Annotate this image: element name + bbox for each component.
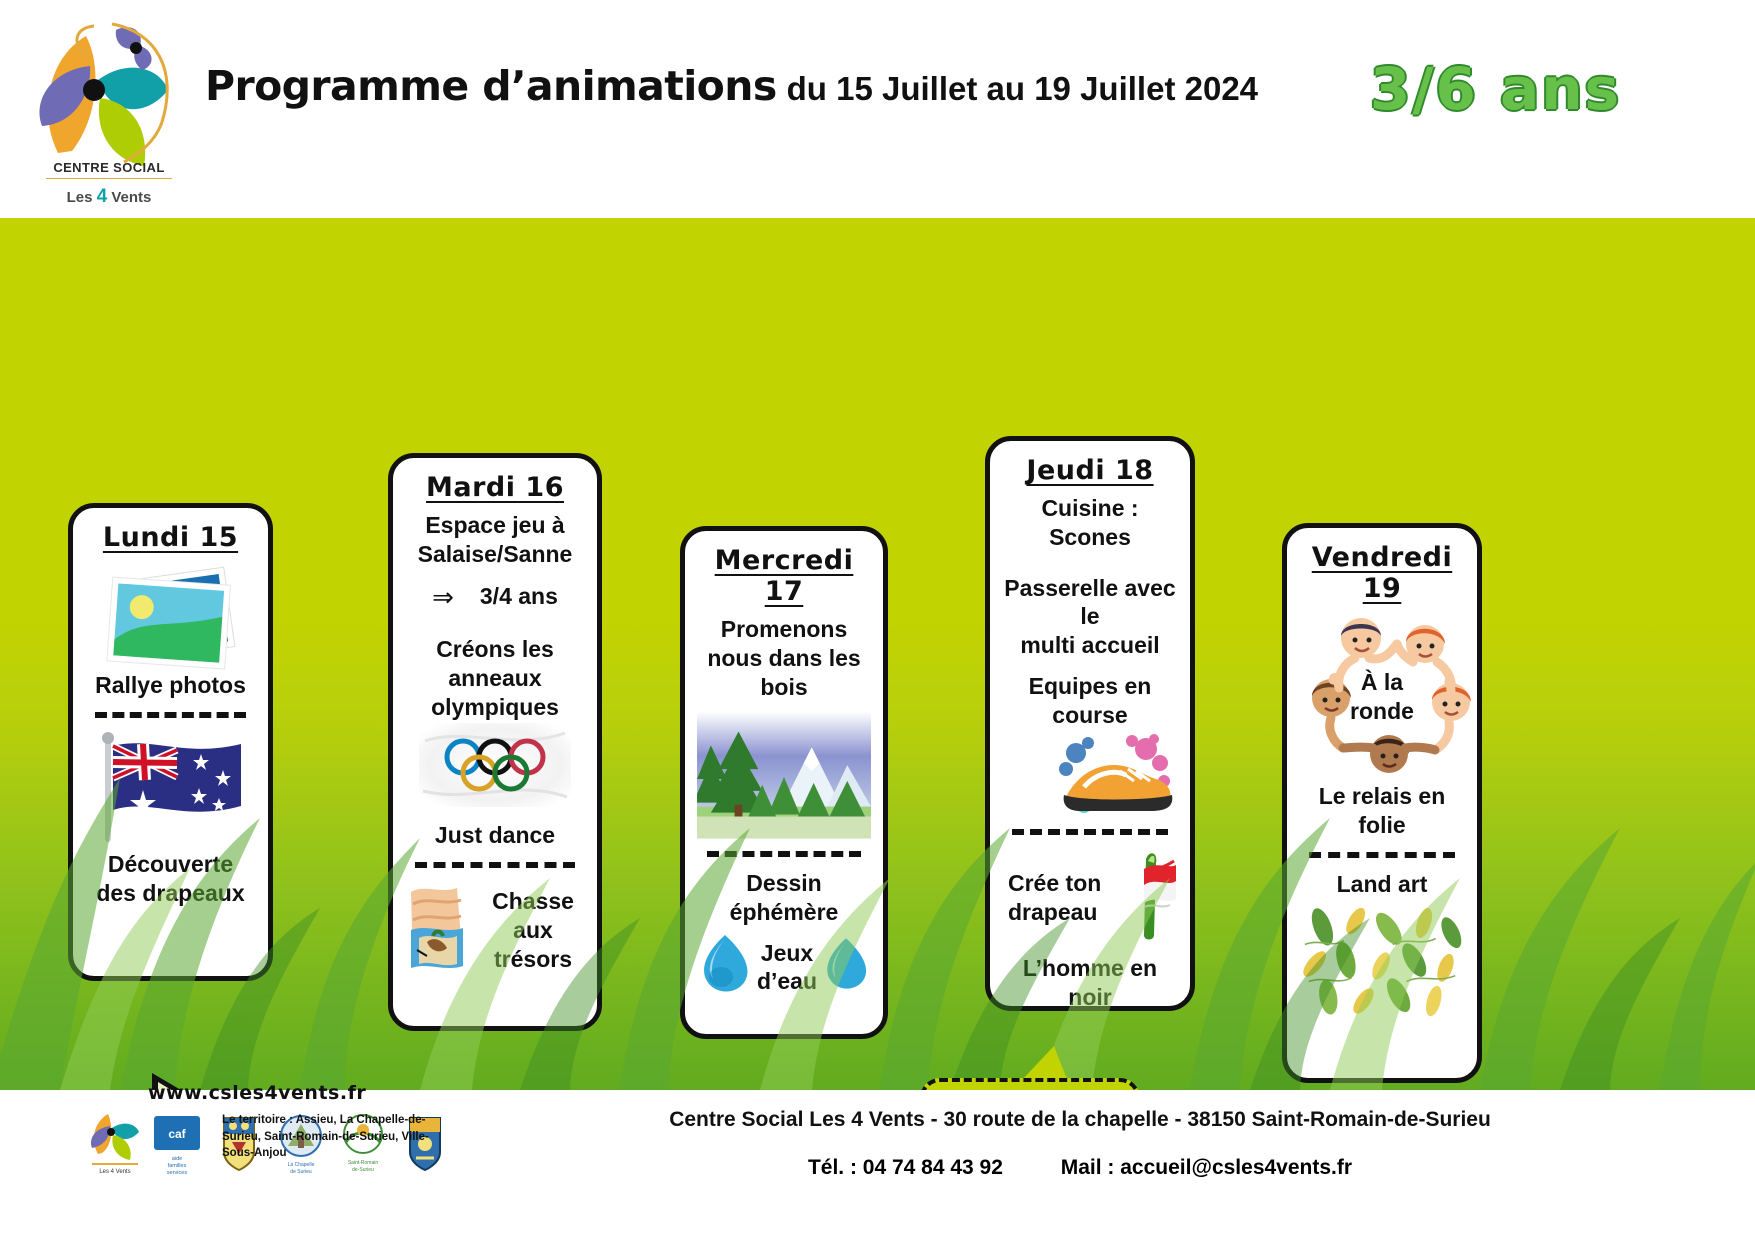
logo-flower-icon: [28, 18, 188, 168]
activity-mardi-2: Créons lesanneauxolympiques: [405, 635, 585, 721]
activity-lundi-2: Découvertedes drapeaux: [85, 850, 256, 908]
logo-org-name: CENTRE SOCIAL: [44, 160, 174, 175]
activity-vendredi-3: Land art: [1299, 870, 1465, 899]
title-daterange: du 15 Juillet au 19 Juillet 2024: [787, 70, 1258, 107]
children-round-icon: À laronde: [1299, 612, 1465, 782]
contact-phone: Tél. : 04 74 84 43 92: [808, 1156, 1003, 1179]
svg-text:Les 4 Vents: Les 4 Vents: [99, 1169, 130, 1175]
temps-fort-bubble-tail: [1020, 1046, 1068, 1082]
day-title-lundi: Lundi 15: [85, 522, 256, 553]
age-group-badge: 3/6 ans: [1370, 55, 1621, 123]
day-card-jeudi[interactable]: Jeudi 18 Cuisine : Scones Passerelle ave…: [985, 436, 1195, 1011]
contact-block: Centre Social Les 4 Vents - 30 route de …: [600, 1108, 1560, 1180]
svg-text:de-Surieu: de-Surieu: [352, 1167, 374, 1173]
activity-mercredi-1: Promenonsnous dans lesbois: [697, 615, 871, 701]
svg-text:services: services: [167, 1170, 187, 1176]
logo-divider: [46, 178, 172, 179]
day-card-mercredi[interactable]: Mercredi 17 Promenonsnous dans lesbois: [680, 526, 888, 1039]
svg-text:de Surieu: de Surieu: [290, 1169, 312, 1175]
card-divider: [415, 862, 575, 868]
page-title: Programme d’animationsdu 15 Juillet au 1…: [205, 62, 1258, 110]
svg-text:La Chapelle: La Chapelle: [288, 1162, 315, 1168]
card-divider: [95, 712, 246, 718]
photos-stack-icon: [85, 561, 256, 671]
temps-fort-bubble[interactable]: Temps fort à partir de 17h: [920, 1078, 1140, 1090]
activity-jeudi-5: L’homme en noir: [1002, 954, 1178, 1012]
poster-root: CENTRE SOCIAL Les 4 Vents Programme d’an…: [0, 0, 1755, 1241]
logo-centre-social-mini: Les 4 Vents: [88, 1108, 142, 1176]
activity-mardi-agegroup-label: 3/4 ans: [480, 582, 558, 611]
svg-text:caf: caf: [168, 1127, 186, 1141]
card-divider: [1309, 852, 1455, 858]
day-card-vendredi[interactable]: Vendredi 19: [1282, 523, 1482, 1083]
activity-mercredi-3-row: Jeux d’eau: [697, 933, 871, 1002]
activity-jeudi-1: Cuisine : Scones: [1002, 494, 1178, 552]
activity-lundi-1: Rallye photos: [85, 671, 256, 700]
activity-jeudi-4-row: Crée tondrapeau: [1002, 847, 1178, 948]
contact-mail[interactable]: Mail : accueil@csles4vents.fr: [1061, 1156, 1352, 1179]
activity-mardi-1: Espace jeu àSalaise/Sanne: [405, 511, 585, 569]
activity-mercredi-3: Jeux d’eau: [753, 939, 821, 997]
poster-header: CENTRE SOCIAL Les 4 Vents Programme d’an…: [0, 0, 1755, 218]
activity-mercredi-2: Dessinéphémère: [697, 869, 871, 927]
day-card-lundi[interactable]: Lundi 15 Rallye photos: [68, 503, 273, 981]
forest-mountain-icon: [697, 711, 871, 839]
water-drop-icon: [697, 933, 753, 1002]
title-main: Programme d’animations: [205, 62, 777, 110]
activity-lundi-2-text: Découvertedes drapeaux: [96, 851, 244, 906]
logo-vents-label: Vents: [107, 189, 151, 206]
activity-jeudi-4: Crée tondrapeau: [1002, 869, 1108, 927]
logo-caf-icon: caf aide familles services: [150, 1108, 204, 1176]
leaves-pattern-icon: [1299, 906, 1465, 1018]
activity-vendredi-2: Le relais enfolie: [1299, 782, 1465, 840]
card-divider: [707, 851, 861, 857]
svg-text:aide: aide: [172, 1156, 182, 1162]
logo-org-subname: Les 4 Vents: [44, 186, 174, 208]
day-card-mardi[interactable]: Mardi 16 Espace jeu àSalaise/Sanne ⇒ 3/4…: [388, 453, 602, 1031]
card-divider: [1012, 829, 1168, 835]
running-shoe-icon: [1002, 731, 1178, 817]
arrow-right-icon: ⇒: [432, 581, 454, 614]
activity-vendredi-1: À laronde: [1299, 668, 1465, 726]
australia-flag-icon: [85, 730, 256, 850]
treasure-map-icon: [405, 880, 477, 981]
website-url[interactable]: www.csles4vents.fr: [148, 1082, 366, 1104]
activity-mardi-4-row: Chasse auxtrésors: [405, 880, 585, 981]
territory-text: Le territoire : Assieu, La Chapelle-de-S…: [222, 1112, 437, 1162]
red-white-flag-icon: [1108, 847, 1178, 948]
poster-body: Lundi 15 Rallye photos: [0, 218, 1755, 1090]
activity-mardi-4: Chasse auxtrésors: [481, 887, 585, 973]
centre-social-logo: CENTRE SOCIAL Les 4 Vents: [28, 18, 188, 203]
day-title-vendredi: Vendredi 19: [1299, 542, 1465, 604]
day-title-jeudi: Jeudi 18: [1002, 455, 1178, 486]
logo-four-number: 4: [97, 186, 108, 207]
day-title-mardi: Mardi 16: [405, 472, 585, 503]
activity-jeudi-2: Passerelle avec lemulti accueil: [1002, 574, 1178, 660]
olympic-rings-icon: [405, 721, 585, 809]
activity-jeudi-3: Equipes encourse: [1002, 672, 1178, 730]
water-drop-icon-2: [821, 934, 871, 1001]
poster-footer: www.csles4vents.fr Les 4 Vents caf aide: [0, 1090, 1755, 1241]
day-title-mercredi: Mercredi 17: [697, 545, 871, 607]
contact-address: Centre Social Les 4 Vents - 30 route de …: [600, 1108, 1560, 1132]
svg-text:familles: familles: [168, 1163, 187, 1169]
activity-mardi-agegroup: ⇒ 3/4 ans: [405, 581, 585, 614]
activity-mardi-3: Just dance: [405, 821, 585, 850]
contact-line-2: Tél. : 04 74 84 43 92 Mail : accueil@csl…: [600, 1156, 1560, 1180]
logo-les-label: Les: [67, 189, 97, 206]
